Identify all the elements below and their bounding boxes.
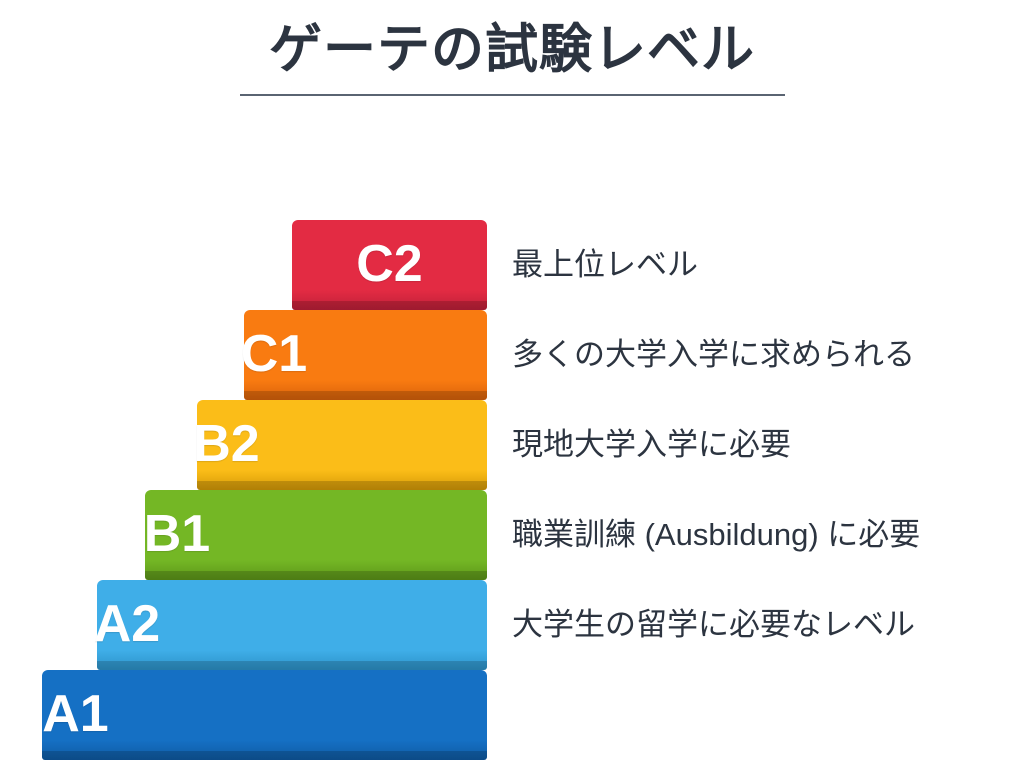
level-pyramid-chart: C2C1B2B1A2A1 [0,0,520,780]
level-description-c2: 最上位レベル [512,249,698,280]
pyramid-tier-c1[interactable]: C1 [244,310,487,400]
pyramid-tier-a2[interactable]: A2 [97,580,487,670]
pyramid-tier-label: C1 [241,328,307,380]
level-description-list: 最上位レベル多くの大学入学に求められる現地大学入学に必要職業訓練 (Ausbil… [512,0,1024,780]
pyramid-tier-b1[interactable]: B1 [145,490,487,580]
pyramid-tier-b2[interactable]: B2 [197,400,487,490]
pyramid-tier-label: A1 [42,688,108,740]
pyramid-tier-label: B2 [193,418,259,470]
pyramid-tier-label: A2 [94,598,160,650]
level-description-a2: 大学生の留学に必要なレベル [512,609,915,640]
level-description-b2: 現地大学入学に必要 [512,429,791,460]
pyramid-tier-label: C2 [356,238,422,290]
pyramid-tier-label: B1 [144,508,210,560]
level-description-c1: 多くの大学入学に求められる [512,339,915,370]
pyramid-tier-c2[interactable]: C2 [292,220,487,310]
level-description-b1: 職業訓練 (Ausbildung) に必要 [512,519,920,550]
pyramid-tier-a1[interactable]: A1 [42,670,487,760]
